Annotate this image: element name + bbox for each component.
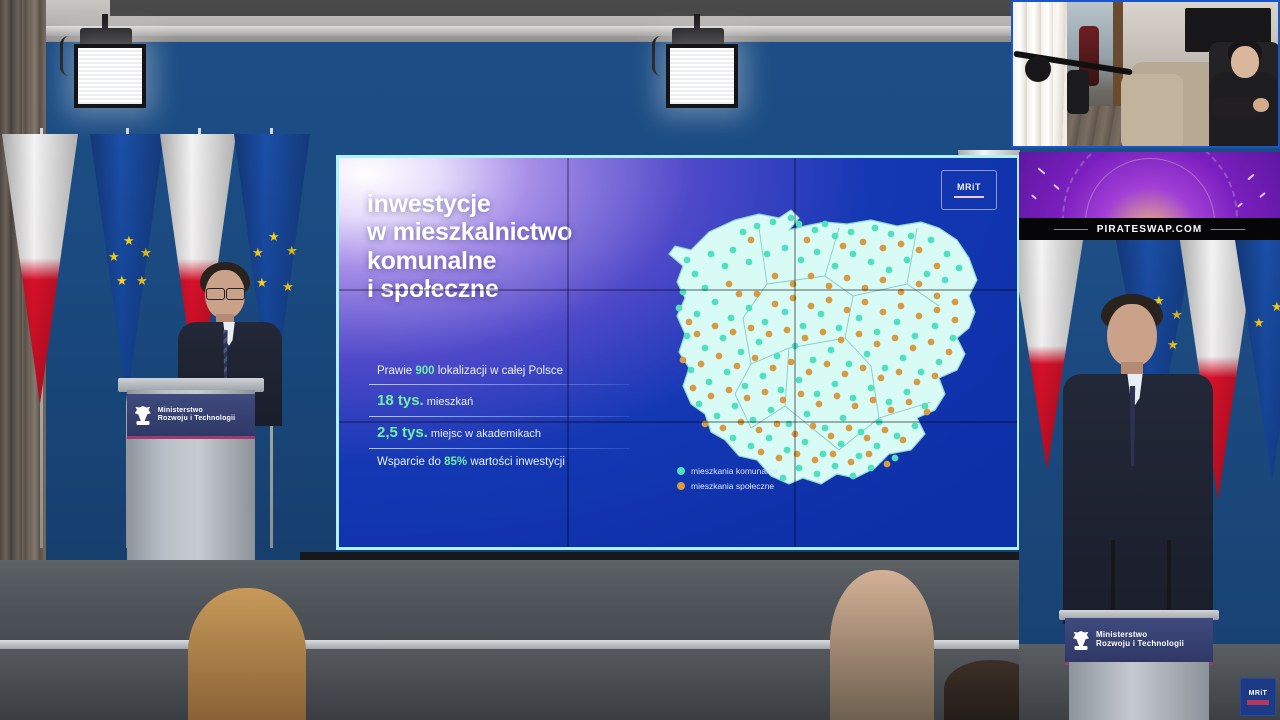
presentation-video-wall: inwestycje w mieszkalnictwo komunalne i … (336, 155, 1020, 550)
stat-value: 18 tys. (377, 392, 424, 409)
ad-sparkle (1247, 174, 1254, 181)
broadcast-watermark: MRiT (1240, 678, 1276, 716)
polish-eagle-icon (133, 404, 153, 426)
podium-plaque: Ministerstwo Rozwoju i Technologii (1065, 618, 1213, 665)
speaker-torso (1063, 374, 1213, 624)
legend-item: mieszkania społeczne (677, 481, 777, 491)
second-camera-overlay[interactable]: ★ ★ ★ ★ ★ ★ ★ ★ (1019, 240, 1280, 720)
stat-prefix: Wsparcie do (377, 456, 444, 468)
stat-value: 900 (415, 365, 434, 377)
stat-row: Prawie 900 lokalizacji w całej Polsce (369, 358, 629, 384)
ministry-line-2: Rozwoju i Technologii (158, 415, 236, 423)
ad-rule (1054, 229, 1088, 230)
flag-poland (2, 134, 78, 404)
ministry-line-2: Rozwoju i Technologii (1096, 640, 1184, 649)
ad-sparkle (1031, 194, 1037, 199)
audience-member (830, 570, 934, 720)
legend-dot-komunalne-icon (677, 467, 685, 475)
slide-title-line-1: inwestycje (367, 190, 677, 218)
podium-closeup: Ministerstwo Rozwoju i Technologii (1059, 610, 1219, 720)
stat-value: 2,5 tys. (377, 424, 428, 441)
streamer-head (1231, 46, 1259, 78)
slide-stats: Prawie 900 lokalizacji w całej Polsce 18… (369, 358, 629, 475)
audience-member (188, 588, 306, 720)
videowall-seam (567, 158, 569, 547)
speaker-head (1107, 304, 1157, 366)
ad-url-bar[interactable]: PIRATESWAP.COM (1019, 218, 1280, 240)
microphone-icon (1067, 70, 1089, 114)
glasses-icon (226, 288, 245, 300)
ad-sparkle (1259, 192, 1266, 198)
stat-row: Wsparcie do 85% wartości inwestycji (369, 449, 629, 475)
slide-title-line-2: w mieszkalnictwo (367, 218, 677, 246)
flag-eu: ★ ★ ★ (1235, 240, 1280, 480)
flag-eu: ★ ★ ★ ★ ★ (90, 134, 164, 402)
stat-value: 85% (444, 456, 467, 468)
podium-plaque: Ministerstwo Rozwoju i Technologii (127, 394, 255, 439)
glasses-icon (206, 288, 225, 300)
ministry-line-1: Ministerstwo (158, 407, 236, 415)
watermark-label: MRiT (1249, 690, 1268, 697)
legend-dot-spoleczne-icon (677, 482, 685, 490)
ad-sparkle (1037, 167, 1045, 174)
stat-suffix: wartości inwestycji (467, 456, 565, 468)
ad-rule (1211, 229, 1245, 230)
stat-suffix: mieszkań (424, 396, 474, 408)
legend-label: mieszkania społeczne (691, 481, 774, 491)
stat-prefix: Prawie (377, 365, 415, 377)
ad-sparkle (1237, 202, 1243, 207)
ad-sparkle (1053, 184, 1060, 190)
legend-label: mieszkania komunalne (691, 466, 777, 476)
stat-suffix: lokalizacji w całej Polsce (435, 365, 563, 377)
stat-row: 18 tys. mieszkań (369, 385, 629, 416)
videowall-seam (794, 158, 796, 547)
videowall-seam (339, 289, 1017, 291)
stream-stage: ★ ★ ★ ★ ★ ★ ★ ★ ★ ★ (0, 0, 1280, 720)
room-sofa-arm (1121, 74, 1183, 148)
webcam-overlay[interactable] (1011, 0, 1280, 148)
slide-brand-label: MRiT (957, 182, 981, 192)
legend-item: mieszkania komunalne (677, 466, 777, 476)
map-legend: mieszkania komunalne mieszkania społeczn… (677, 466, 777, 496)
streamer-hand (1253, 98, 1269, 112)
speaker-closeup (1067, 294, 1217, 624)
boom-arm-joint (1025, 56, 1051, 82)
slide-title-line-3: komunalne (367, 247, 677, 275)
stat-suffix: miejsc w akademikach (428, 428, 541, 440)
ad-url-text: PIRATESWAP.COM (1097, 224, 1203, 235)
slide-brand-badge: MRiT (941, 170, 997, 210)
slide-title: inwestycje w mieszkalnictwo komunalne i … (367, 190, 677, 303)
ad-banner[interactable]: PIRATESWAP.COM (1019, 152, 1280, 240)
polish-eagle-icon (1071, 629, 1091, 651)
videowall-seam (339, 421, 1017, 423)
